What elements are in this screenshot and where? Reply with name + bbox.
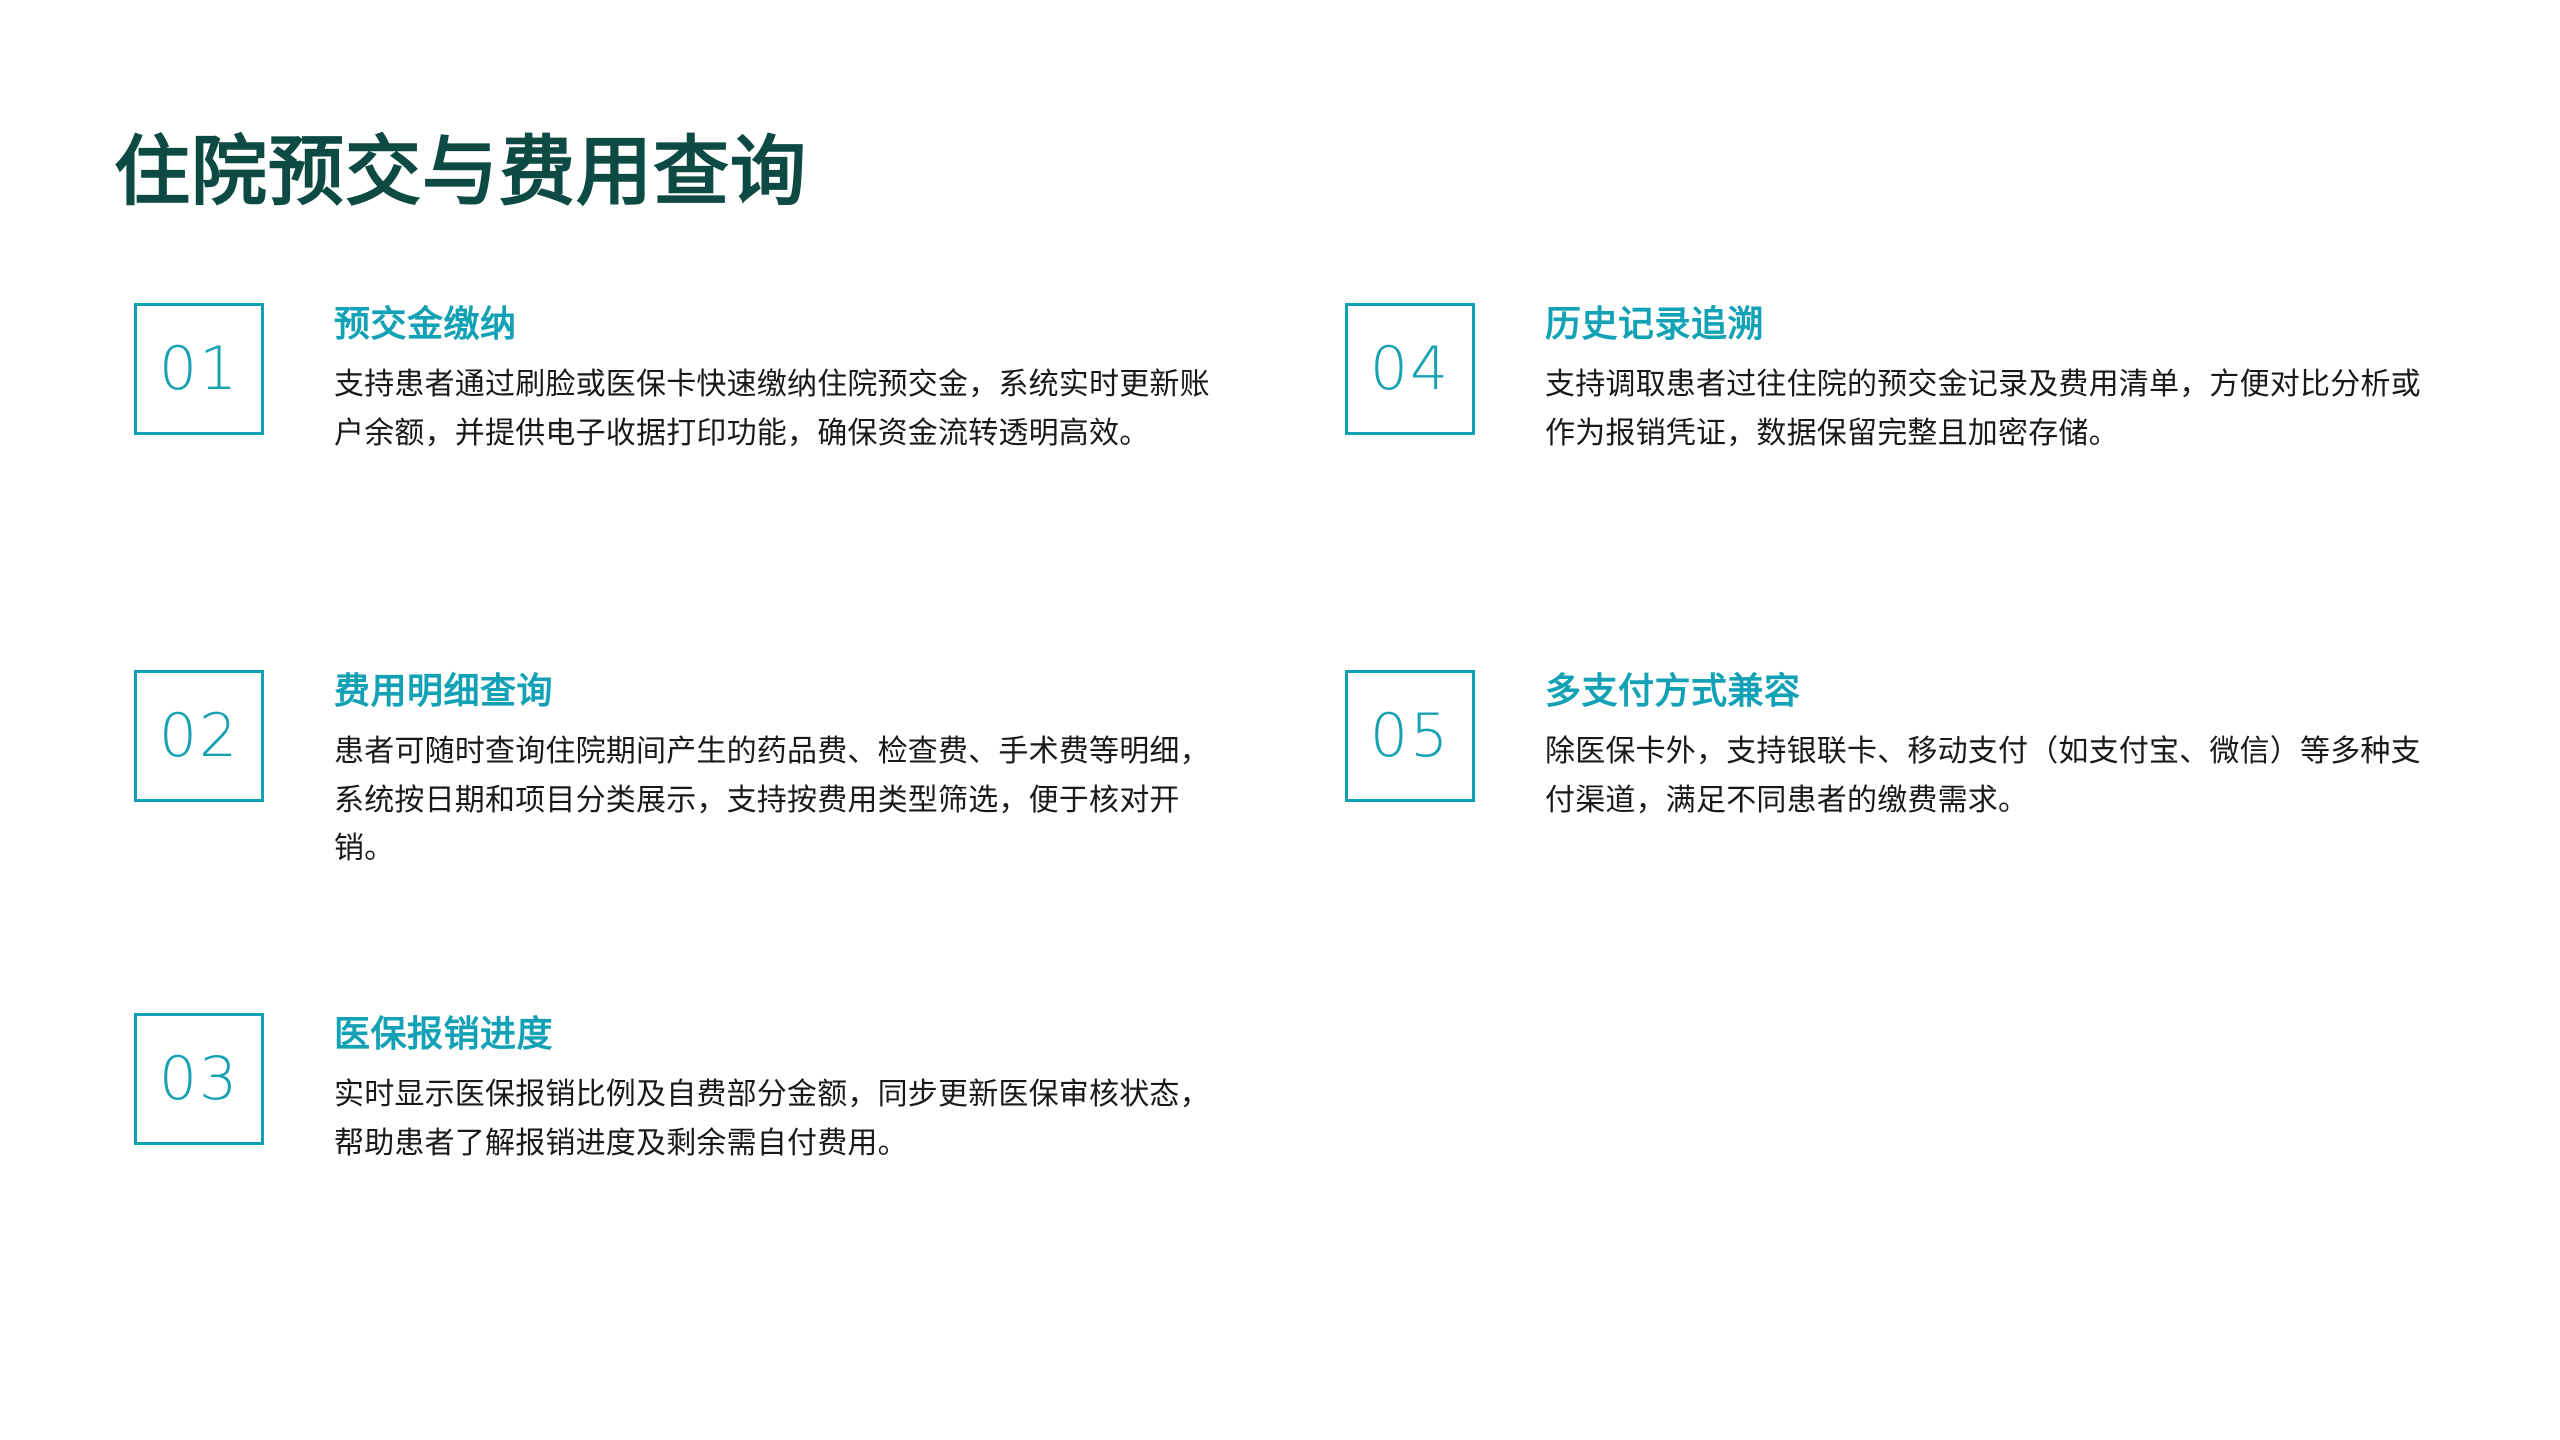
number-label-03: 03: [159, 1049, 239, 1109]
number-label-02: 02: [159, 706, 239, 766]
feature-body-03: 医保报销进度 实时显示医保报销比例及自费部分金额，同步更新医保审核状态，帮助患者…: [264, 1010, 1234, 1168]
feature-heading-05: 多支付方式兼容: [1545, 669, 2445, 712]
feature-heading-01: 预交金缴纳: [334, 302, 1234, 345]
feature-heading-02: 费用明细查询: [334, 669, 1234, 712]
feature-item-03: 03 医保报销进度 实时显示医保报销比例及自费部分金额，同步更新医保审核状态，帮…: [134, 1010, 1234, 1168]
feature-heading-03: 医保报销进度: [334, 1012, 1234, 1055]
feature-item-04: 04 历史记录追溯 支持调取患者过往住院的预交金记录及费用清单，方便对比分析或作…: [1345, 300, 2445, 458]
feature-description-02: 患者可随时查询住院期间产生的药品费、检查费、手术费等明细，系统按日期和项目分类展…: [334, 728, 1234, 874]
number-box-03: 03: [134, 1013, 264, 1145]
number-label-01: 01: [159, 339, 239, 399]
slide-root: 住院预交与费用查询 01 预交金缴纳 支持患者通过刷脸或医保卡快速缴纳住院预交金…: [0, 0, 2560, 1440]
feature-body-04: 历史记录追溯 支持调取患者过往住院的预交金记录及费用清单，方便对比分析或作为报销…: [1475, 300, 2445, 458]
number-label-05: 05: [1370, 706, 1450, 766]
feature-description-04: 支持调取患者过往住院的预交金记录及费用清单，方便对比分析或作为报销凭证，数据保留…: [1545, 361, 2445, 458]
feature-item-01: 01 预交金缴纳 支持患者通过刷脸或医保卡快速缴纳住院预交金，系统实时更新账户余…: [134, 300, 1234, 458]
feature-description-01: 支持患者通过刷脸或医保卡快速缴纳住院预交金，系统实时更新账户余额，并提供电子收据…: [334, 361, 1234, 458]
feature-heading-04: 历史记录追溯: [1545, 302, 2445, 345]
feature-body-05: 多支付方式兼容 除医保卡外，支持银联卡、移动支付（如支付宝、微信）等多种支付渠道…: [1475, 667, 2445, 825]
number-label-04: 04: [1370, 339, 1450, 399]
feature-description-05: 除医保卡外，支持银联卡、移动支付（如支付宝、微信）等多种支付渠道，满足不同患者的…: [1545, 728, 2445, 825]
feature-body-02: 费用明细查询 患者可随时查询住院期间产生的药品费、检查费、手术费等明细，系统按日…: [264, 667, 1234, 874]
number-box-05: 05: [1345, 670, 1475, 802]
number-box-02: 02: [134, 670, 264, 802]
feature-item-05: 05 多支付方式兼容 除医保卡外，支持银联卡、移动支付（如支付宝、微信）等多种支…: [1345, 667, 2445, 825]
feature-item-02: 02 费用明细查询 患者可随时查询住院期间产生的药品费、检查费、手术费等明细，系…: [134, 667, 1234, 874]
feature-description-03: 实时显示医保报销比例及自费部分金额，同步更新医保审核状态，帮助患者了解报销进度及…: [334, 1071, 1234, 1168]
number-box-04: 04: [1345, 303, 1475, 435]
feature-body-01: 预交金缴纳 支持患者通过刷脸或医保卡快速缴纳住院预交金，系统实时更新账户余额，并…: [264, 300, 1234, 458]
number-box-01: 01: [134, 303, 264, 435]
page-title: 住院预交与费用查询: [114, 129, 807, 216]
